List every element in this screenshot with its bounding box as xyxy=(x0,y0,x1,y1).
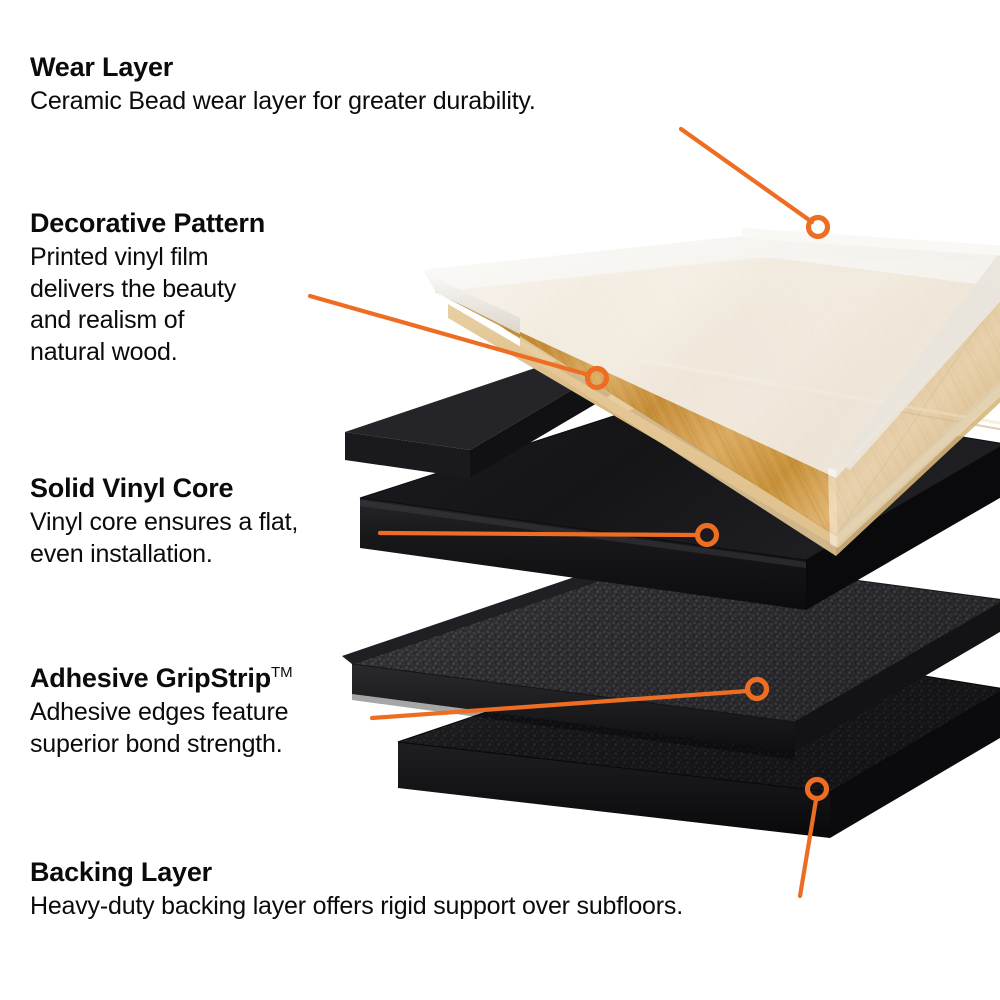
callout-title-text-adhesive-gripstrip: Adhesive GripStrip xyxy=(30,663,271,693)
callout-title-wear-layer: Wear Layer xyxy=(30,52,536,83)
callout-title-backing-layer: Backing Layer xyxy=(30,857,683,888)
callout-solid-vinyl-core: Solid Vinyl Core Vinyl core ensures a fl… xyxy=(30,473,298,570)
callout-body-solid-vinyl-core: Vinyl core ensures a flat, even installa… xyxy=(30,507,298,570)
callout-decorative-pattern: Decorative Pattern Printed vinyl film de… xyxy=(30,208,330,368)
leader-solid-vinyl-core xyxy=(380,533,698,535)
leader-wear-layer xyxy=(681,129,812,222)
callout-body-backing-layer: Heavy-duty backing layer offers rigid su… xyxy=(30,891,683,923)
callout-adhesive-gripstrip: Adhesive GripStripTM Adhesive edges feat… xyxy=(30,663,293,760)
callout-body-adhesive-gripstrip: Adhesive edges feature superior bond str… xyxy=(30,697,293,760)
callout-body-decorative-pattern: Printed vinyl film delivers the beauty a… xyxy=(30,242,330,368)
callout-body-wear-layer: Ceramic Bead wear layer for greater dura… xyxy=(30,86,536,118)
callout-backing-layer: Backing Layer Heavy-duty backing layer o… xyxy=(30,857,683,923)
trademark-symbol: TM xyxy=(271,664,293,681)
callout-wear-layer: Wear Layer Ceramic Bead wear layer for g… xyxy=(30,52,536,118)
callout-title-solid-vinyl-core: Solid Vinyl Core xyxy=(30,473,298,504)
callout-title-decorative-pattern: Decorative Pattern xyxy=(30,208,330,239)
callout-title-adhesive-gripstrip: Adhesive GripStripTM xyxy=(30,663,293,694)
layer-diagram-canvas: Wear Layer Ceramic Bead wear layer for g… xyxy=(0,0,1000,1000)
